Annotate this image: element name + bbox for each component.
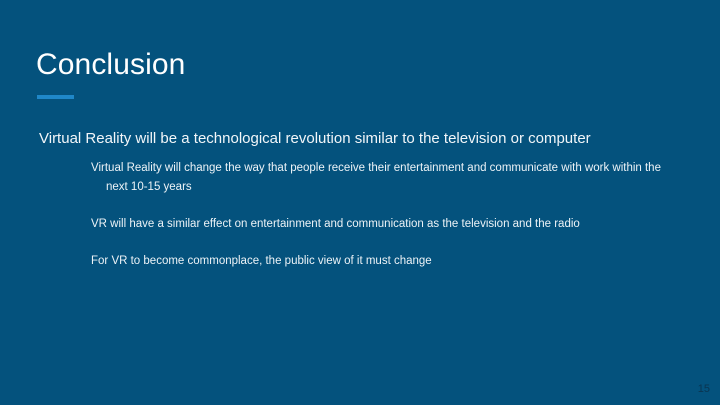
slide-body: Virtual Reality will be a technological … [0, 128, 720, 271]
bullet-level2: Virtual Reality will change the way that… [0, 159, 720, 197]
bullet-level2: For VR to become commonplace, the public… [0, 252, 720, 271]
presentation-slide: Conclusion Virtual Reality will be a tec… [0, 0, 720, 405]
sub-bullet-list: Virtual Reality will change the way that… [0, 159, 720, 271]
bullet-level1: Virtual Reality will be a technological … [0, 128, 720, 149]
title-accent-bar [37, 95, 74, 99]
bullet-level2: VR will have a similar effect on enterta… [0, 215, 720, 234]
page-number: 15 [698, 383, 710, 396]
page-title: Conclusion [36, 46, 185, 84]
